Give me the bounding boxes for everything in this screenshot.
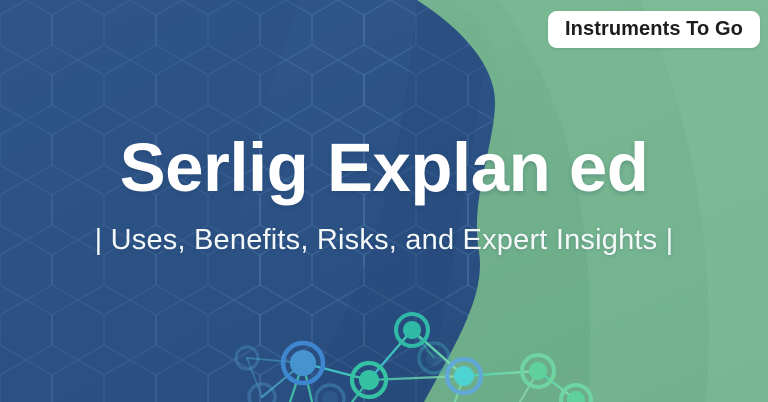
page-subtitle: | Uses, Benefits, Risks, and Expert Insi… bbox=[0, 225, 768, 257]
brand-badge-label: Instruments To Go bbox=[565, 18, 743, 41]
headline-block: Serlig Explan ed | Uses, Benefits, Risks… bbox=[0, 132, 768, 257]
page-title: Serlig Explan ed bbox=[0, 132, 768, 203]
banner-content: Instruments To Go Serlig Explan ed | Use… bbox=[0, 0, 768, 402]
banner-root: Instruments To Go Serlig Explan ed | Use… bbox=[0, 0, 768, 402]
brand-badge[interactable]: Instruments To Go bbox=[548, 11, 760, 48]
